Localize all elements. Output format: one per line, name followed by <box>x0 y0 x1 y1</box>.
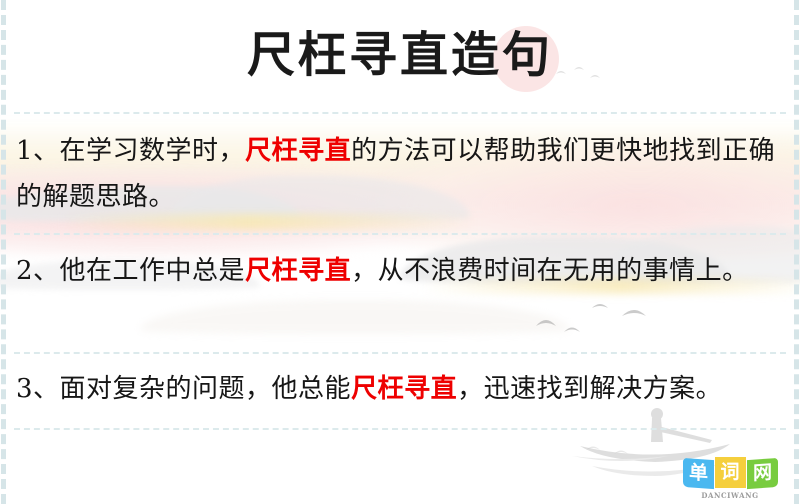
section-separator <box>14 233 786 235</box>
example-sentence-2: 2、他在工作中总是尺枉寻直，从不浪费时间在无用的事情上。 <box>16 248 782 294</box>
section-separator <box>14 352 786 354</box>
sentence-index: 2、 <box>16 256 60 286</box>
sentence-text-after: ，迅速找到解决方案。 <box>457 374 722 404</box>
logo-char-panel-green: 网 <box>747 458 778 489</box>
flying-birds-icon <box>530 296 660 338</box>
logo-caption: DANCIWANG <box>678 491 782 500</box>
keyword-highlight: 尺枉寻直 <box>245 256 351 286</box>
section-separator <box>14 428 786 430</box>
sentence-text-before: 面对复杂的问题，他总能 <box>60 374 352 404</box>
example-sentence-3: 3、面对复杂的问题，他总能尺枉寻直，迅速找到解决方案。 <box>16 366 782 412</box>
mountain-ridge-decoration <box>140 300 570 334</box>
logo-char-panel-yellow: 词 <box>715 457 746 488</box>
keyword-highlight: 尺枉寻直 <box>351 374 457 404</box>
section-separator <box>14 112 786 114</box>
keyword-highlight: 尺枉寻直 <box>245 136 351 166</box>
example-sentence-1: 1、在学习数学时，尺枉寻直的方法可以帮助我们更快地找到正确的解题思路。 <box>16 128 782 220</box>
logo-panels: 单 词 网 <box>678 457 782 488</box>
site-logo[interactable]: 单 词 网 DANCIWANG <box>678 457 782 500</box>
page-root: 尺枉寻直造句 1、在学习数学时，尺枉寻直的方法可以帮助我们更快地找到正确的解题思… <box>0 0 800 504</box>
sentence-text-after: ，从不浪费时间在无用的事情上。 <box>351 256 749 286</box>
page-title: 尺枉寻直造句 <box>0 22 800 88</box>
sentence-index: 3、 <box>16 374 60 404</box>
logo-char-panel-blue: 单 <box>683 458 714 489</box>
sentence-text-before: 在学习数学时， <box>60 136 246 166</box>
sentence-text-before: 他在工作中总是 <box>60 256 246 286</box>
sentence-index: 1、 <box>16 136 60 166</box>
